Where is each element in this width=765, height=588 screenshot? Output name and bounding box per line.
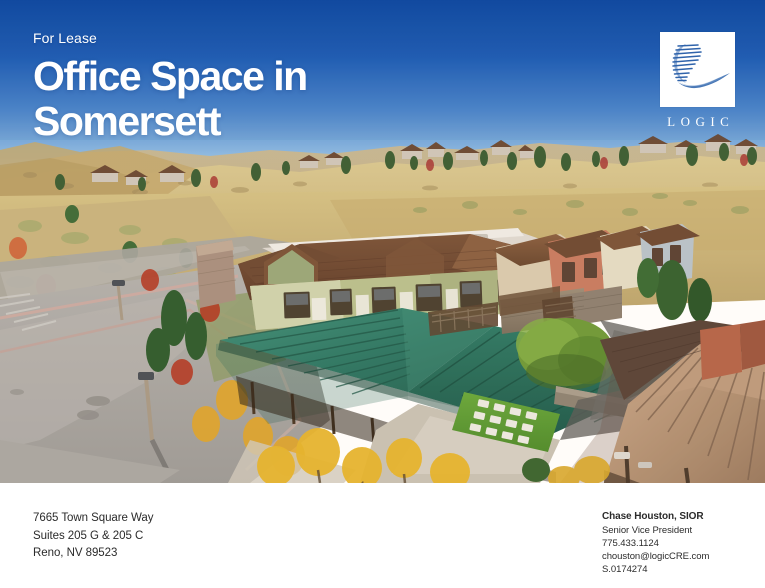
hero-aerial-photo: For Lease Office Space inSomersett (0, 0, 765, 483)
for-lease-flyer: For Lease Office Space inSomersett (0, 0, 765, 588)
brand-logo[interactable]: LOGIC (660, 32, 736, 129)
page-title: Office Space inSomersett (33, 54, 307, 144)
hero-headline-block: For Lease Office Space inSomersett (33, 30, 307, 144)
headline-line-2: Somersett (33, 99, 307, 144)
property-address: 7665 Town Square Way Suites 205 G & 205 … (33, 510, 153, 563)
broker-phone[interactable]: 775.433.1124 (602, 537, 732, 550)
logo-wordmark: LOGIC (660, 114, 736, 129)
broker-email[interactable]: chouston@logicCRE.com (602, 550, 732, 563)
broker-name: Chase Houston, SIOR (602, 510, 732, 523)
logo-box (660, 32, 735, 107)
headline-line-1: Office Space in (33, 53, 307, 99)
broker-title: Senior Vice President (602, 524, 732, 537)
broker-contact-block: Chase Houston, SIOR Senior Vice Presiden… (602, 510, 732, 577)
broker-license-number: S.0174274 (602, 563, 732, 576)
address-line-1: 7665 Town Square Way (33, 510, 153, 528)
address-line-3: Reno, NV 89523 (33, 545, 153, 563)
eyebrow-for-lease: For Lease (33, 30, 307, 47)
footer: 7665 Town Square Way Suites 205 G & 205 … (0, 483, 765, 588)
address-line-2: Suites 205 G & 205 C (33, 528, 153, 546)
logic-abstract-swoosh-mark-icon (660, 32, 735, 107)
